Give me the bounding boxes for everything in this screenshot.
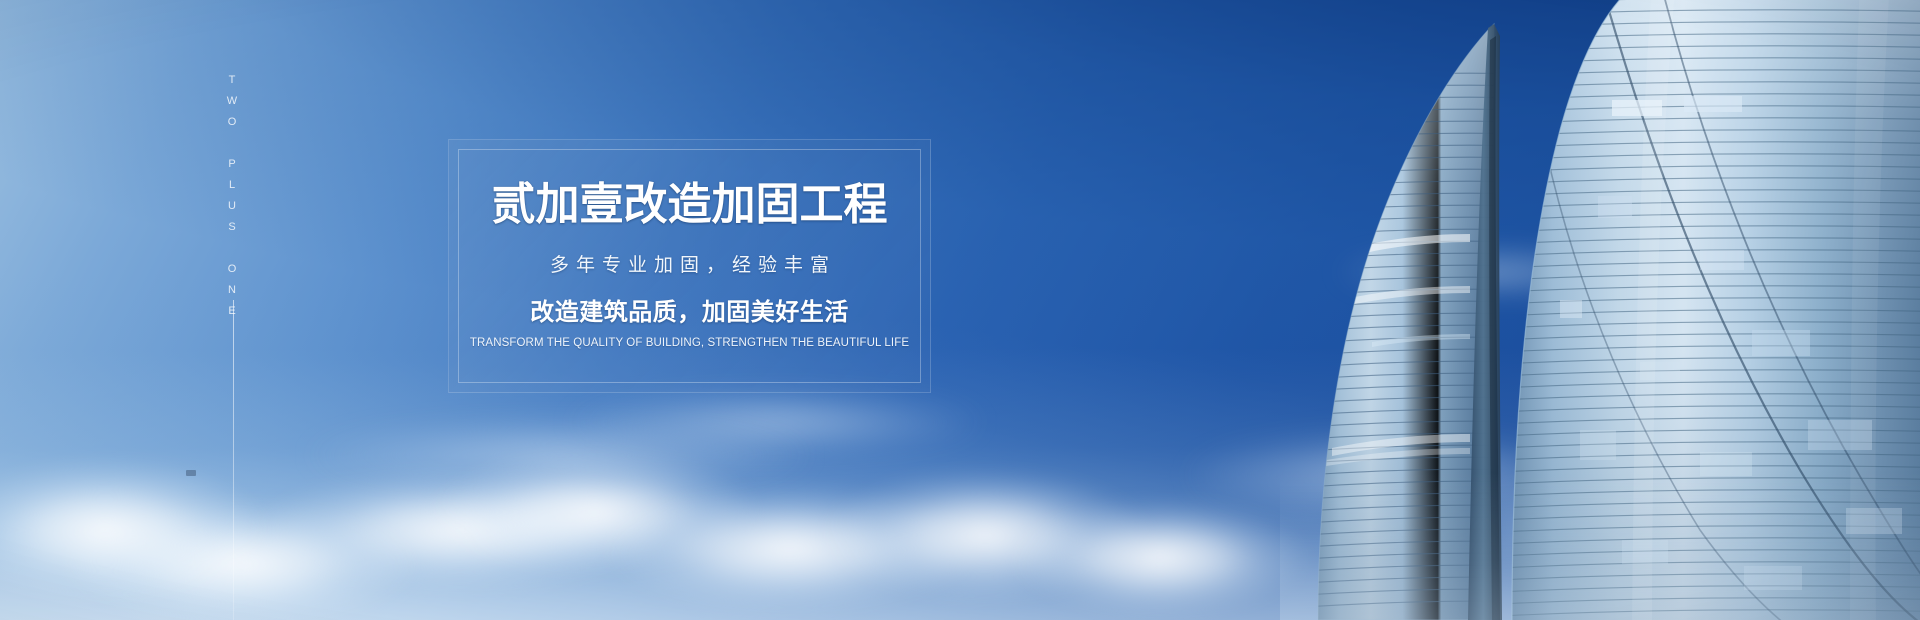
- brand-vertical-label: TWO PLUS ONE: [226, 74, 237, 326]
- headline-panel-content: 贰加壹改造加固工程 多年专业加固，经验丰富 改造建筑品质，加固美好生活 TRAN…: [448, 139, 931, 393]
- vertical-divider-line: [233, 300, 234, 620]
- brand-rail: TWO PLUS ONE: [186, 0, 246, 620]
- headline-slogan: 改造建筑品质，加固美好生活: [530, 301, 849, 325]
- headline-title: 贰加壹改造加固工程: [492, 183, 888, 227]
- cloud-bank: [0, 0, 1920, 620]
- brand-mark-glyph: [186, 470, 196, 476]
- banner-root: TWO PLUS ONE 贰加壹改造加固工程 多年专业加固，经验丰富 改造建筑品…: [0, 0, 1920, 620]
- cloud-puff: [1010, 500, 1310, 615]
- headline-english-tagline: TRANSFORM THE QUALITY OF BUILDING, STREN…: [470, 338, 909, 350]
- cloud-wisp: [1330, 250, 1650, 294]
- headline-subtitle: 多年专业加固，经验丰富: [543, 256, 836, 275]
